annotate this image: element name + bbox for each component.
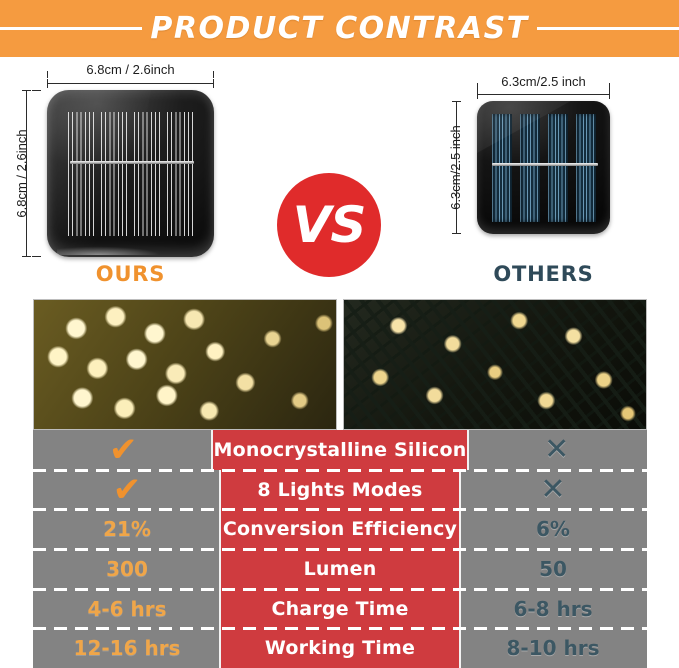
ours-height-tick-bottom [32, 256, 41, 257]
vs-badge: VS [277, 173, 381, 277]
solar-cell-group [134, 112, 160, 236]
feature-label: Working Time [265, 637, 415, 659]
ours-value-cell: 300 [33, 549, 221, 589]
feature-name-cell: Lumen [221, 549, 459, 589]
ours-value-cell: ✔ [33, 430, 213, 470]
ours-string-lights-photo [33, 299, 337, 430]
ours-value-cell: 21% [33, 509, 221, 549]
feature-name-cell: Working Time [221, 628, 459, 668]
feature-label: 8 Lights Modes [257, 479, 422, 501]
ours-solar-panel [47, 90, 214, 257]
solar-cell-group [101, 112, 127, 236]
table-row: ✔Monocrystalline Silicon✕ [33, 430, 647, 470]
others-width-label: 6.3cm/2.5 inch [470, 74, 617, 89]
vs-label: VS [293, 200, 366, 250]
others-height-label: 6.3cm/2.5 inch [448, 94, 463, 241]
table-row: 12-16 hrsWorking Time8-10 hrs [33, 628, 647, 668]
others-value-cell: 6% [459, 509, 647, 549]
check-icon: ✔ [109, 433, 138, 467]
feature-label: Charge Time [271, 598, 408, 620]
ours-width-dimension-line [47, 83, 214, 84]
ours-panel-bottom-sheen [57, 243, 204, 255]
ours-value-cell: 4-6 hrs [33, 589, 221, 629]
ours-value: 12-16 hrs [74, 636, 181, 660]
others-value: 6-8 hrs [513, 597, 592, 621]
ours-value: 300 [106, 557, 148, 581]
cross-icon: ✕ [544, 435, 569, 465]
ours-height-label: 6.8cm / 2.6inch [14, 90, 29, 257]
cross-icon: ✕ [540, 475, 565, 505]
check-icon: ✔ [113, 473, 142, 507]
ours-height-tick-top [32, 90, 41, 91]
feature-name-cell: Charge Time [221, 589, 459, 629]
header-banner: PRODUCT CONTRAST [0, 0, 679, 57]
header-rule-right [537, 27, 679, 30]
photo-strip [33, 299, 647, 430]
ours-value: 21% [103, 517, 151, 541]
others-string-lights-photo [343, 299, 647, 430]
feature-name-cell: Monocrystalline Silicon [213, 430, 466, 470]
table-row: 4-6 hrsCharge Time6-8 hrs [33, 589, 647, 629]
ours-value: 4-6 hrs [87, 597, 166, 621]
others-value-cell: ✕ [467, 430, 647, 470]
solar-cell-group [167, 112, 193, 236]
table-row: 21%Conversion Efficiency6% [33, 509, 647, 549]
solar-cell-group [576, 114, 596, 222]
others-solar-panel [477, 101, 610, 234]
ours-solar-cells [68, 112, 193, 236]
spec-comparison-table: ✔Monocrystalline Silicon✕✔8 Lights Modes… [33, 430, 647, 668]
feature-label: Conversion Efficiency [223, 518, 457, 540]
panel-comparison-section: 6.8cm / 2.6inch 6.8cm / 2.6inch OURS VS … [0, 57, 679, 292]
solar-cell-group [68, 112, 94, 236]
solar-cell-group [548, 114, 568, 222]
ours-value-cell: 12-16 hrs [33, 628, 221, 668]
ours-caption: OURS [47, 262, 214, 286]
others-width-dimension-line [477, 94, 610, 95]
solar-cell-group [520, 114, 540, 222]
table-row: 300Lumen50 [33, 549, 647, 589]
others-value-cell: 8-10 hrs [459, 628, 647, 668]
others-value-cell: ✕ [459, 470, 647, 510]
others-value-cell: 6-8 hrs [459, 589, 647, 629]
header-rule-left [0, 27, 142, 30]
ours-value-cell: ✔ [33, 470, 221, 510]
ours-busbar [70, 161, 194, 164]
feature-label: Lumen [304, 558, 377, 580]
others-value: 8-10 hrs [506, 636, 599, 660]
feature-label: Monocrystalline Silicon [213, 439, 466, 461]
others-value-cell: 50 [459, 549, 647, 589]
ours-width-label: 6.8cm / 2.6inch [47, 62, 214, 77]
others-solar-cells [492, 114, 596, 222]
feature-name-cell: Conversion Efficiency [221, 509, 459, 549]
others-caption: OTHERS [462, 262, 625, 286]
others-value: 6% [536, 517, 570, 541]
solar-cell-group [492, 114, 512, 222]
others-busbar [492, 163, 598, 166]
feature-name-cell: 8 Lights Modes [221, 470, 459, 510]
others-value: 50 [539, 557, 567, 581]
table-row: ✔8 Lights Modes✕ [33, 470, 647, 510]
page-title: PRODUCT CONTRAST [142, 11, 536, 46]
